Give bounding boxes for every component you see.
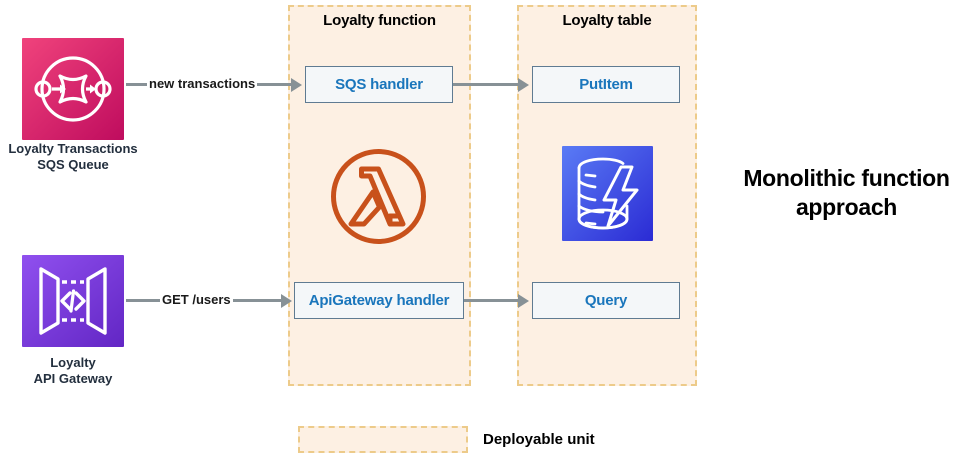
legend-swatch-deployable-unit — [298, 426, 468, 453]
node-label-api-gateway: Loyalty API Gateway — [0, 355, 146, 388]
node-label-api-gateway-line2: API Gateway — [0, 371, 146, 387]
opbox-apigateway-handler[interactable]: ApiGateway handler — [294, 282, 464, 319]
arrow-label-new-transactions: new transactions — [147, 77, 257, 91]
arrow-apigw-to-query-line — [464, 299, 518, 302]
diagram-canvas: Loyalty function Loyalty table Loyalty T… — [0, 0, 975, 459]
opbox-sqs-handler[interactable]: SQS handler — [305, 66, 453, 103]
arrow-get-users-head — [281, 294, 292, 308]
legend-label-deployable-unit: Deployable unit — [483, 431, 595, 448]
node-label-sqs-queue: Loyalty Transactions SQS Queue — [0, 141, 146, 174]
unit-title-loyalty-function: Loyalty function — [288, 12, 471, 29]
node-label-sqs-queue-line2: SQS Queue — [0, 157, 146, 173]
node-label-api-gateway-line1: Loyalty — [0, 355, 146, 371]
lambda-icon — [330, 148, 427, 245]
opbox-query[interactable]: Query — [532, 282, 680, 319]
unit-title-loyalty-table: Loyalty table — [517, 12, 697, 29]
opbox-putitem[interactable]: PutItem — [532, 66, 680, 103]
headline-monolithic-function-approach: Monolithic function approach — [718, 164, 975, 223]
arrow-new-transactions-head — [291, 78, 302, 92]
arrow-label-get-users: GET /users — [160, 293, 233, 307]
dynamodb-icon — [562, 146, 653, 241]
api-gateway-icon — [22, 255, 124, 347]
node-label-sqs-queue-line1: Loyalty Transactions — [0, 141, 146, 157]
arrow-sqs-to-putitem-head — [518, 78, 529, 92]
arrow-sqs-to-putitem-line — [453, 83, 518, 86]
arrow-apigw-to-query-head — [518, 294, 529, 308]
sqs-queue-icon — [22, 38, 124, 140]
